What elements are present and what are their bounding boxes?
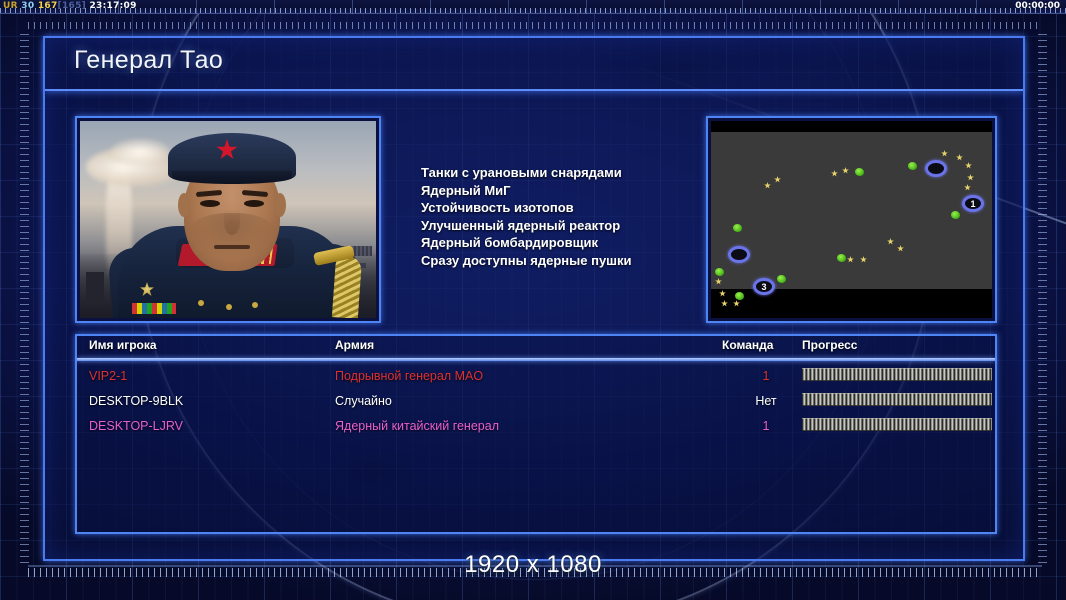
minimap-start-position[interactable]: 3 [753,278,775,295]
player-list-panel: Имя игрока Армия Команда Прогресс VIP2-1… [75,334,997,534]
general-abilities-list: Танки с урановыми снарядами Ядерный МиГ … [421,164,632,270]
portrait-nose [224,209,240,235]
portrait-eye-left [200,200,220,207]
uniform-aiguillette [332,255,362,318]
minimap-start-position[interactable] [925,160,947,177]
player-list-header: Имя игрока Армия Команда Прогресс [77,336,995,358]
ruler-top [28,22,1042,29]
cell-team: 1 [742,369,790,383]
cell-player-name: VIP2-1 [89,369,127,383]
minimap-tree-icon [733,224,742,232]
header-army: Армия [335,338,374,352]
ability-item: Танки с урановыми снарядами [421,164,632,182]
header-player-name: Имя игрока [89,338,157,352]
ruler-right [1038,34,1047,566]
title-band: Генерал Тао [45,38,1023,91]
top-status-bar: UR 30 167[165] 23:17:09 00:00:00 [0,0,1066,14]
ability-item: Сразу доступны ядерные пушки [421,252,632,270]
ability-item: Улучшенный ядерный реактор [421,217,632,235]
resolution-label: 1920 x 1080 [0,551,1066,579]
cell-player-name: DESKTOP-LJRV [89,419,183,433]
table-row[interactable]: DESKTOP-9BLKСлучайноНет [77,390,995,415]
page-title: Генерал Тао [74,46,223,75]
network-stats-value-a: 30 [21,1,34,11]
cap-brim [172,171,292,184]
portrait-eye-right [244,200,264,207]
minimap-preview[interactable]: 13 [711,121,992,318]
minimap-tree-icon [855,168,864,176]
minimap-tree-icon [908,162,917,170]
table-row[interactable]: DESKTOP-LJRVЯдерный китайский генерал1 [77,415,995,440]
general-portrait-image [80,121,376,318]
minimap-tree-icon [715,268,724,276]
uniform-button [252,302,258,308]
uniform-button [198,300,204,306]
uniform-button [226,304,232,310]
network-stats-value-c: [165] [58,1,87,11]
minimap-star-icon [733,300,740,307]
portrait-mouth [214,245,250,249]
cell-army: Случайно [335,394,392,408]
cell-army: Подрывной генерал MAO [335,369,483,383]
minimap-terrain [711,132,992,289]
network-stats: UR 30 167[165] 23:17:09 [3,1,137,12]
network-stats-value-b: 167 [38,1,58,11]
portrait-ear-right [274,193,286,217]
mushroom-cloud-top [110,139,170,165]
minimap-star-icon [721,300,728,307]
header-progress: Прогресс [802,338,857,352]
minimap-tree-icon [837,254,846,262]
header-divider [77,358,995,361]
network-stats-prefix: UR [3,1,18,11]
cell-team: Нет [742,394,790,408]
minimap-start-position[interactable]: 1 [962,195,984,212]
minimap-tree-icon [735,292,744,300]
table-row[interactable]: VIP2-1Подрывной генерал MAO1 [77,365,995,390]
ability-item: Ядерный МиГ [421,182,632,200]
ability-item: Ядерный бомбардировщик [421,234,632,252]
session-clock: 00:00:00 [1015,1,1060,12]
general-abilities-panel: Танки с урановыми снарядами Ядерный МиГ … [385,116,705,323]
cell-army: Ядерный китайский генерал [335,419,499,433]
cell-team: 1 [742,419,790,433]
minimap-star-icon [719,290,726,297]
top-bar-tick-marks [0,8,1066,13]
ruler-left [20,34,29,566]
general-portrait-panel [75,116,381,323]
minimap-tree-icon [777,275,786,283]
network-stats-time: 23:17:09 [89,1,136,11]
cell-player-name: DESKTOP-9BLK [89,394,183,408]
progress-bar [802,418,992,431]
portrait-ear-left [178,193,190,217]
minimap-start-position[interactable] [728,246,750,263]
main-frame: Генерал Тао [43,36,1025,561]
header-team: Команда [722,338,773,352]
uniform-ribbons [132,303,176,314]
ability-item: Устойчивость изотопов [421,199,632,217]
progress-bar [802,368,992,381]
minimap-panel[interactable]: 13 [706,116,997,323]
progress-bar [802,393,992,406]
minimap-tree-icon [951,211,960,219]
